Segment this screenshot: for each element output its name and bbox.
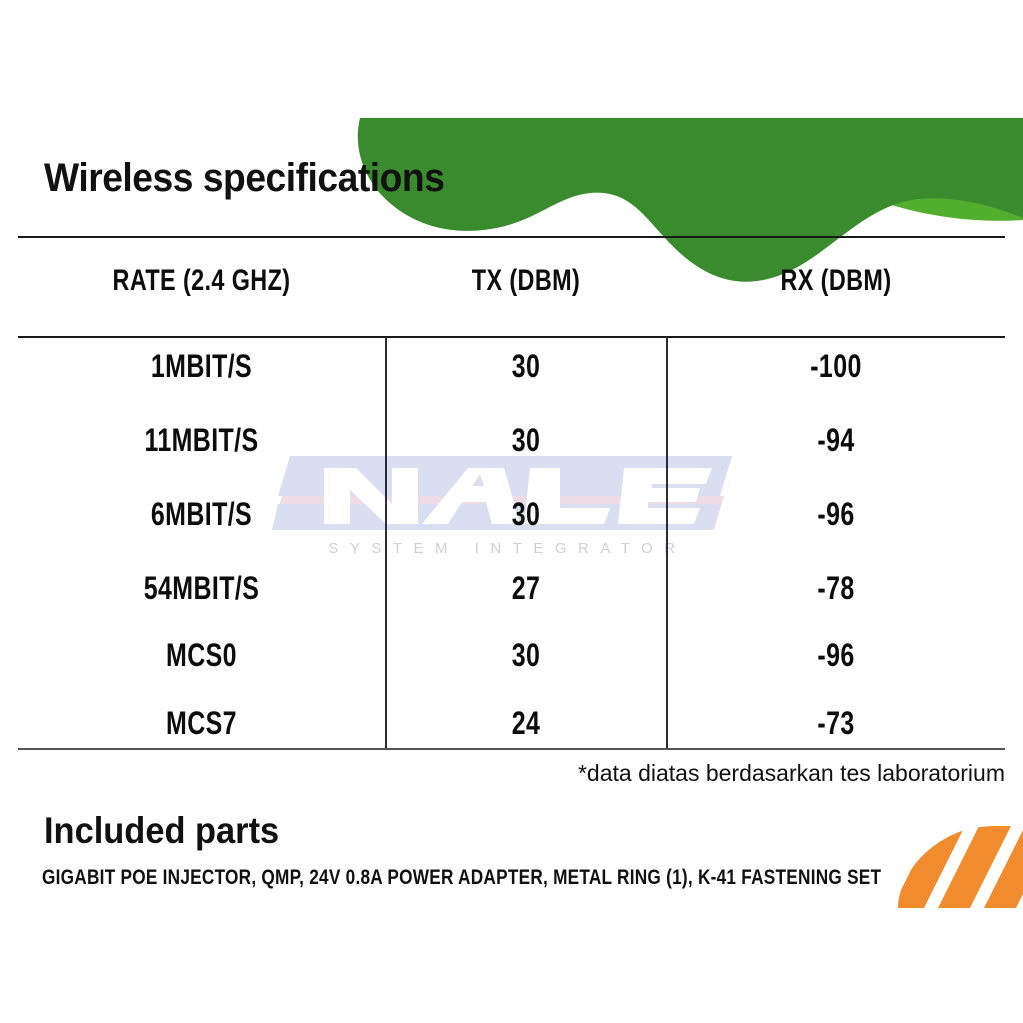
included-parts-list: GIGABIT POE INJECTOR, QMP, 24V 0.8A POWE… (42, 866, 881, 890)
table-column-divider-2 (666, 337, 668, 748)
watermark-tagline: SYSTEM INTEGRATOR (272, 540, 732, 557)
table-rule-bottom (18, 748, 1005, 750)
table-row: 27 (417, 570, 635, 607)
table-row: 6MBIT/S (58, 496, 344, 533)
table-row: -94 (704, 422, 968, 459)
table-row: 30 (417, 422, 635, 459)
included-parts-heading: Included parts (44, 810, 279, 852)
table-rule-top (18, 236, 1005, 238)
table-header-tx: TX (DBM) (417, 264, 635, 298)
wave-bright-green (600, 118, 1023, 221)
spec-sheet-page: Wireless specifications SYSTEM INTEGRA (0, 0, 1023, 1023)
table-header-rate: RATE (2.4 GHZ) (58, 264, 344, 298)
wave-dark-green (358, 118, 1023, 282)
stripe-group (898, 826, 1023, 908)
table-row: -78 (704, 570, 968, 607)
table-row: MCS0 (58, 637, 344, 674)
table-column-divider-1 (385, 337, 387, 748)
table-rule-middle (18, 336, 1005, 338)
watermark-band-blue (278, 456, 732, 496)
table-row: -100 (704, 348, 968, 385)
page-title: Wireless specifications (44, 156, 444, 201)
orange-stripes-decoration (898, 826, 1023, 908)
table-row: 30 (417, 496, 635, 533)
table-row: 30 (417, 637, 635, 674)
table-row: 11MBIT/S (58, 422, 344, 459)
table-row: 24 (417, 705, 635, 742)
table-footnote: *data diatas berdasarkan tes laboratoriu… (578, 760, 1005, 787)
table-row: -96 (704, 637, 968, 674)
table-header-rx: RX (DBM) (704, 264, 968, 298)
table-row: 30 (417, 348, 635, 385)
table-row: 54MBIT/S (58, 570, 344, 607)
table-row: 1MBIT/S (58, 348, 344, 385)
table-row: MCS7 (58, 705, 344, 742)
table-row: -96 (704, 496, 968, 533)
table-row: -73 (704, 705, 968, 742)
